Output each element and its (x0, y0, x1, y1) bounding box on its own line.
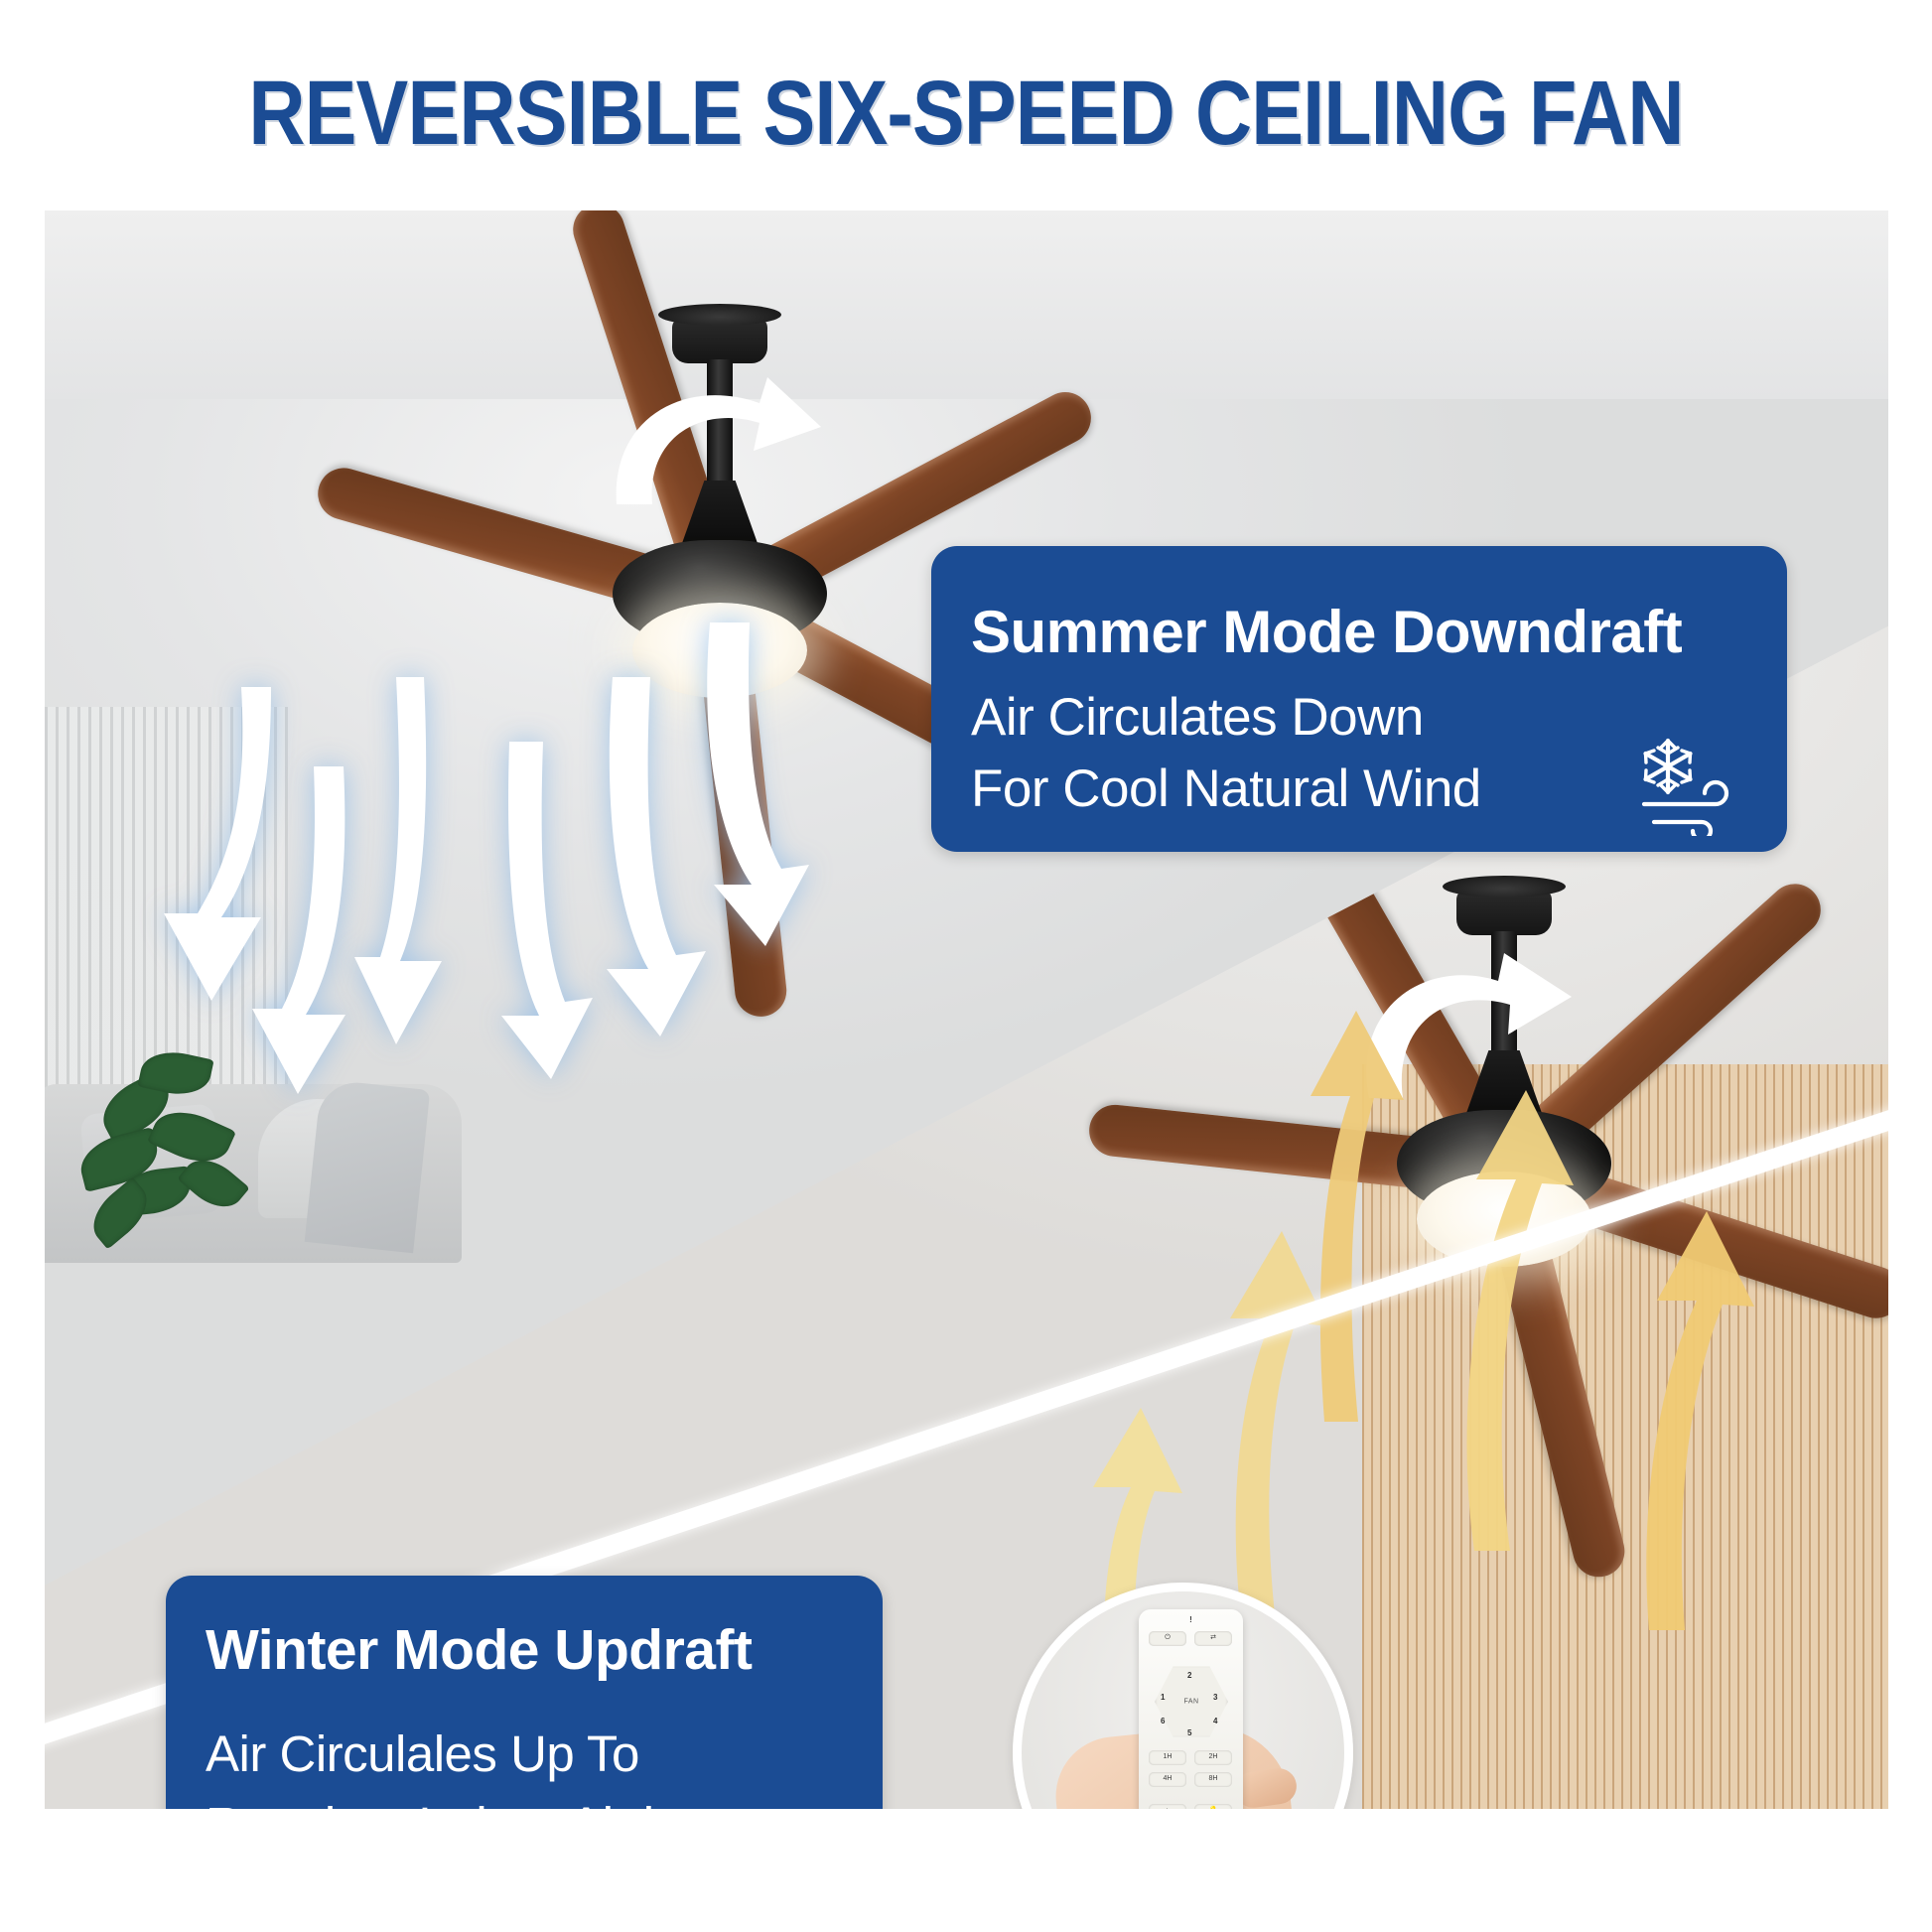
power-icon[interactable]: ⏻ (1149, 1631, 1186, 1646)
sofa-throw-blanket (305, 1079, 431, 1254)
updraft-arrow (1281, 1005, 1410, 1422)
speed-button-4[interactable]: 4 (1213, 1717, 1217, 1725)
callout-summer-line1: Air Circulates Down (971, 687, 1424, 748)
callout-summer-mode: Summer Mode Downdraft Air Circulates Dow… (931, 546, 1787, 852)
updraft-arrow (1435, 1084, 1584, 1551)
callout-winter-mode: Winter Mode Updraft Air Circulales Up To… (166, 1576, 883, 1809)
speed-button-5[interactable]: 5 (1187, 1728, 1191, 1737)
remote-top-indicator: ! (1189, 1615, 1192, 1624)
updraft-arrow (1613, 1203, 1762, 1630)
page-title: REVERSIBLE SIX-SPEED CEILING FAN (135, 62, 1797, 166)
potted-plant (79, 1044, 258, 1233)
speed-button-2[interactable]: 2 (1187, 1671, 1191, 1680)
ceiling-mount (1456, 890, 1552, 935)
speed-pad-center-label: FAN (1183, 1699, 1198, 1706)
speed-button-3[interactable]: 3 (1213, 1693, 1217, 1702)
product-collage: Summer Mode Downdraft Air Circulates Dow… (45, 210, 1888, 1809)
callout-summer-line2: For Cool Natural Wind (971, 759, 1481, 819)
callout-winter-title: Winter Mode Updraft (206, 1617, 752, 1683)
dimmer-icon[interactable]: ◐ (1149, 1804, 1186, 1809)
callout-summer-title: Summer Mode Downdraft (971, 598, 1682, 666)
snowflake-wind-icon (1632, 733, 1751, 836)
callout-winter-line1: Air Circulales Up To (206, 1725, 639, 1783)
timer-button-8h[interactable]: 8H (1194, 1772, 1232, 1787)
timer-button-2h[interactable]: 2H (1194, 1750, 1232, 1765)
downdraft-arrow (670, 622, 829, 950)
bulb-icon[interactable]: 💡 (1194, 1804, 1232, 1809)
speed-button-1[interactable]: 1 (1161, 1693, 1165, 1702)
timer-button-4h[interactable]: 4H (1149, 1772, 1186, 1787)
reverse-icon[interactable]: ⇄ (1194, 1631, 1232, 1646)
remote-control[interactable]: ! ⏻ ⇄ FAN 1 2 3 4 5 6 1H 2H 4H 8H ◐ 💡 (1139, 1609, 1243, 1809)
rotation-arrow-cw-icon (591, 355, 829, 544)
speed-button-6[interactable]: 6 (1161, 1717, 1165, 1725)
callout-winter-line2: Regulate Indoor Airtiow (206, 1796, 718, 1809)
timer-button-1h[interactable]: 1H (1149, 1750, 1186, 1765)
